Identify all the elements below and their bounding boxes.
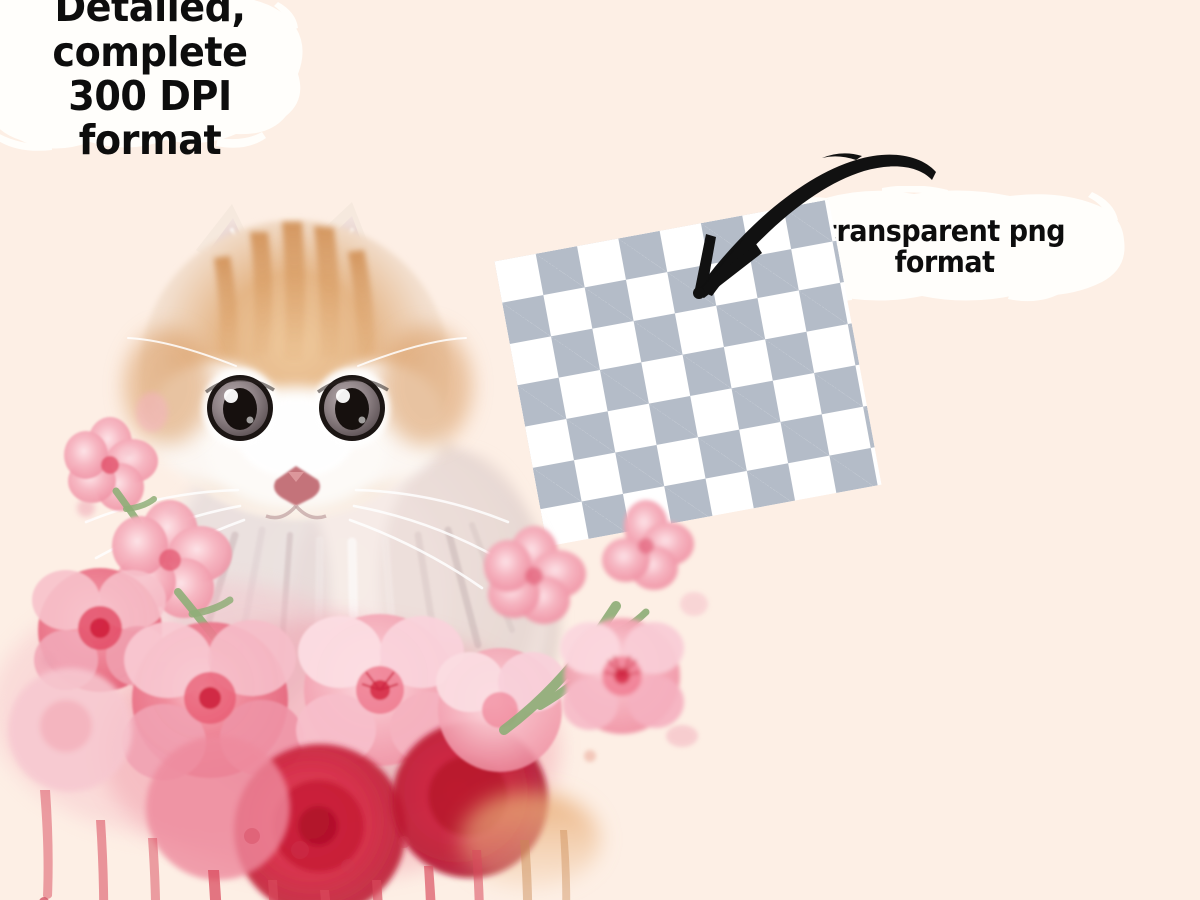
banner-detailed-300dpi: Detailed, complete 300 DPI format <box>0 0 308 160</box>
banner-top-text: Detailed, complete 300 DPI format <box>3 0 297 163</box>
poster-canvas: Detailed, complete 300 DPI format transp… <box>0 0 1200 900</box>
banner-right-text: transparent png format <box>824 216 1065 279</box>
right-flower-sprig <box>470 480 730 780</box>
